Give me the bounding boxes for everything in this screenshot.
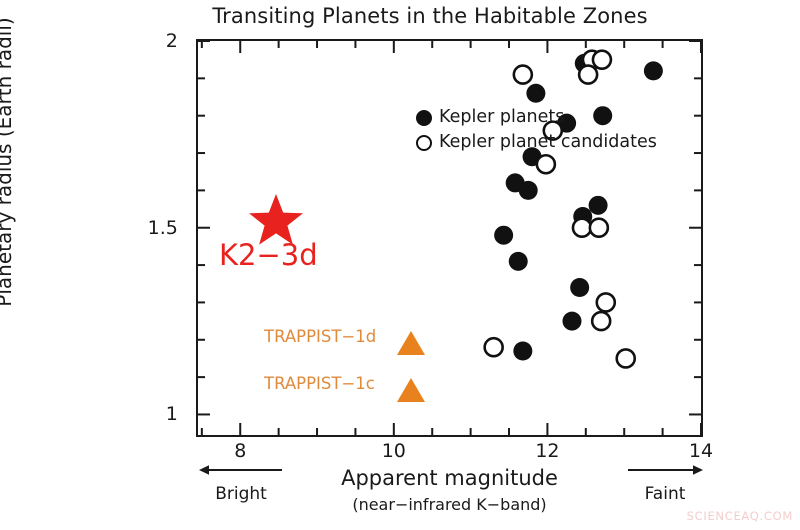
- trappist-1c-label: TRAPPIST−1c: [264, 376, 375, 393]
- data-point-kepler-candidate: [593, 51, 611, 69]
- y-axis-label: Planetary radius (Earth radii): [0, 0, 16, 372]
- filled-circle-icon: [416, 110, 432, 126]
- x-tick-label: 14: [689, 440, 713, 462]
- data-point-kepler-candidate: [597, 293, 615, 311]
- watermark: SCIENCEAQ.COM: [687, 509, 793, 523]
- faint-direction-arrow-icon: [628, 462, 704, 478]
- y-tick-label: 1.5: [148, 217, 178, 239]
- data-point-kepler-candidate: [485, 338, 503, 356]
- open-circle-icon: [416, 135, 432, 151]
- data-point-kepler-planet: [494, 226, 513, 245]
- x-tick-label: 12: [535, 440, 559, 462]
- data-point-kepler-planet: [644, 61, 663, 80]
- data-point-kepler-candidate: [573, 219, 591, 237]
- data-point-kepler-planet: [519, 181, 538, 200]
- x-tick-label: 8: [234, 440, 246, 462]
- trappist-1d-triangle-icon: [396, 330, 426, 356]
- legend-item-kepler-candidates: Kepler planet candidates: [416, 130, 657, 155]
- data-point-kepler-planet: [570, 278, 589, 297]
- chart-root: Transiting Planets in the Habitable Zone…: [0, 0, 800, 530]
- chart-title-text: Transiting Planets in the Habitable Zone…: [152, 4, 647, 28]
- data-point-kepler-planet: [589, 196, 608, 215]
- data-point-kepler-planet: [562, 312, 581, 331]
- trappist-1c-triangle-icon: [396, 377, 426, 403]
- data-point-kepler-candidate: [617, 349, 635, 367]
- data-point-kepler-candidate: [579, 66, 597, 84]
- chart-title: Transiting Planets in the Habitable Zone…: [0, 4, 800, 28]
- x-tick-label: 10: [382, 440, 406, 462]
- data-point-kepler-candidate: [514, 66, 532, 84]
- bright-direction-arrow-icon: [198, 462, 284, 478]
- data-point-kepler-planet: [509, 252, 528, 271]
- trappist-1d-label: TRAPPIST−1d: [264, 329, 376, 346]
- legend-item-kepler-planets: Kepler planets: [416, 105, 657, 130]
- y-tick-label: 2: [166, 30, 178, 52]
- legend-label-kepler-candidates: Kepler planet candidates: [439, 134, 657, 152]
- legend-label-kepler-planets: Kepler planets: [439, 109, 564, 127]
- data-point-kepler-candidate: [537, 155, 555, 173]
- data-point-kepler-candidate: [590, 219, 608, 237]
- data-point-kepler-candidate: [592, 312, 610, 330]
- data-point-kepler-planet: [513, 341, 532, 360]
- faint-label: Faint: [626, 484, 704, 504]
- y-tick-label: 1: [166, 403, 178, 425]
- k2-3d-label: K2−3d: [219, 241, 318, 270]
- data-point-kepler-planet: [526, 84, 545, 103]
- legend: Kepler planets Kepler planet candidates: [416, 105, 657, 155]
- bright-label: Bright: [197, 484, 285, 504]
